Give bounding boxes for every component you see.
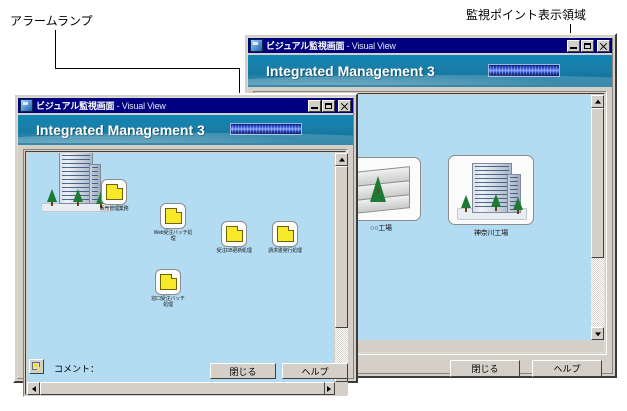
front-node-label-4: 窓口受注バッチ 処理 [140,296,196,308]
front-node-label-3: 請求書発行処理 [260,248,310,254]
front-window-title: ビジュアル監視画面 - Visual View [36,100,308,112]
back-window-scroll-up-button[interactable] [591,95,604,108]
annotation-alarm-leader-vertical-left [55,30,56,69]
minimize-icon[interactable] [567,40,580,52]
back-window-title-main: ビジュアル監視画面 [266,41,344,51]
close-icon[interactable] [597,40,610,52]
front-window-scroll-left-button[interactable] [27,382,40,395]
front-node-label-1: Web受注バッチ処 理 [147,230,199,242]
front-window-vscrollbar[interactable] [335,153,348,382]
visual-view-icon [250,39,263,52]
front-window-title-main: ビジュアル監視画面 [36,101,114,111]
back-window-title-buttons [567,40,610,52]
front-window-canvas[interactable]: 販売管理業務 Web受注バッチ処 理 受注DB更新処理 請求書発行処理 窓口受注… [27,153,333,382]
comment-label: コメント： [54,362,99,375]
front-window-title-buttons [308,100,351,112]
front-window-hscrollbar[interactable] [27,382,335,395]
back-window-titlebar[interactable]: ビジュアル監視画面 - Visual View [248,38,612,53]
close-icon[interactable] [338,100,351,112]
front-node-3[interactable]: 請求書発行処理 [260,221,310,254]
back-window-vscroll-thumb[interactable] [591,108,604,258]
front-window-title-subtitle: Visual View [122,101,166,111]
front-window-canvas-frame: 販売管理業務 Web受注バッチ処 理 受注DB更新処理 請求書発行処理 窓口受注… [23,149,348,397]
front-node-0[interactable]: 販売管理業務 [89,179,139,212]
front-window-help-button[interactable]: ヘルプ [282,363,348,379]
front-window-titlebar[interactable]: ビジュアル監視画面 - Visual View [18,98,353,113]
annotation-alarm-lamp-label: アラームランプ [10,12,93,29]
note-icon[interactable] [221,221,247,247]
note-icon[interactable] [272,221,298,247]
front-node-4[interactable]: 窓口受注バッチ 処理 [140,269,196,308]
front-node-2[interactable]: 受注DB更新処理 [209,221,259,254]
back-window-banner-title: Integrated Management 3 [266,63,435,79]
front-window[interactable]: ビジュアル監視画面 - Visual View Integrated Manag… [13,93,358,383]
back-node-card-label-1: 神奈川工場 [448,228,534,238]
back-window-alarm-lamp[interactable] [488,64,560,77]
front-window-banner: Integrated Management 3 [18,115,353,145]
visual-view-icon [20,99,33,112]
back-window-close-button[interactable]: 閉じる [450,360,520,377]
front-window-alarm-lamp[interactable] [230,123,302,135]
annotation-alarm-leader-horizontal [55,68,240,69]
front-window-banner-title: Integrated Management 3 [36,122,205,138]
minimize-icon[interactable] [308,100,321,112]
back-window-title: ビジュアル監視画面 - Visual View [266,40,567,52]
maximize-icon[interactable] [322,100,335,112]
back-window-banner: Integrated Management 3 [248,55,612,87]
back-window-title-subtitle: Visual View [352,41,396,51]
front-node-1[interactable]: Web受注バッチ処 理 [147,203,199,242]
back-node-card-1[interactable] [448,155,534,225]
back-window-title-separator: - [344,41,351,51]
comment-map-icon-inner [29,359,44,374]
back-window-help-button[interactable]: ヘルプ [532,360,602,377]
front-window-vscroll-thumb[interactable] [335,166,348,328]
front-node-label-0: 販売管理業務 [89,206,139,212]
annotation-monitor-area-label: 監視ポイント表示領域 [466,6,586,23]
note-icon[interactable] [101,179,127,205]
maximize-icon[interactable] [581,40,594,52]
back-window-vscrollbar[interactable] [591,95,604,340]
front-window-scroll-up-button[interactable] [335,153,348,166]
note-icon[interactable] [160,203,186,229]
front-node-label-2: 受注DB更新処理 [209,248,259,254]
front-window-close-button[interactable]: 閉じる [210,363,276,379]
note-icon[interactable] [155,269,181,295]
front-window-scroll-corner [335,382,348,395]
front-window-title-separator: - [114,101,121,111]
front-window-hscroll-thumb[interactable] [40,382,325,395]
office-tower-art [449,156,534,225]
back-window-scroll-down-button[interactable] [591,327,604,340]
